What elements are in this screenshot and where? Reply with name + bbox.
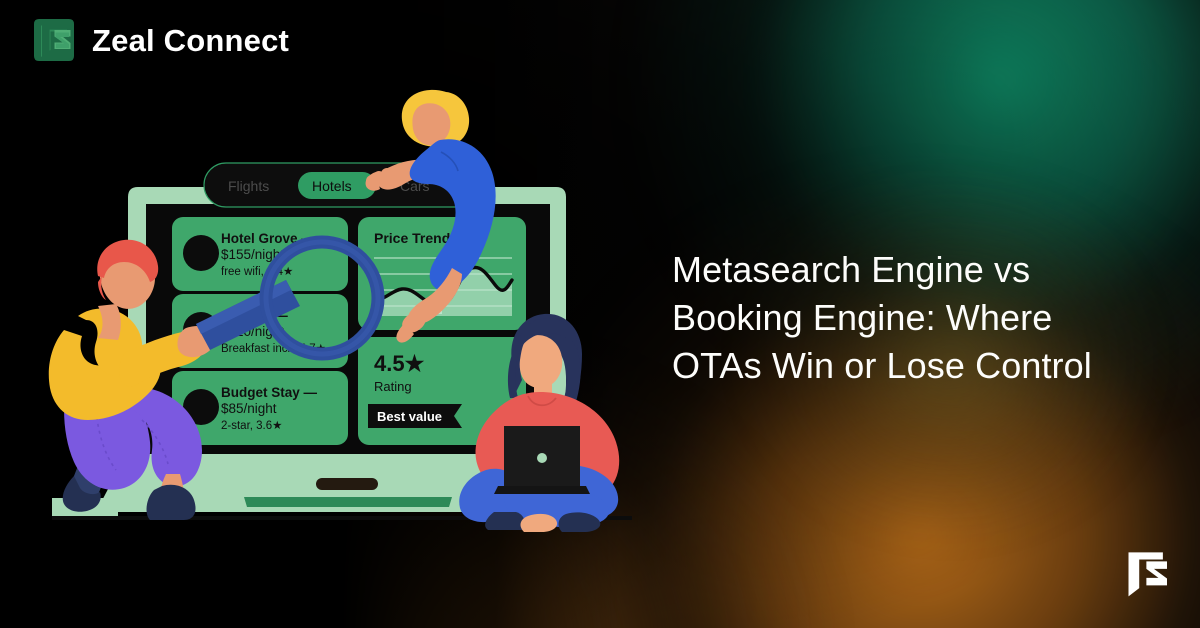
hotel-card-1[interactable]: Hotel Grove — $155/night free wifi, 4.4★ (172, 217, 348, 291)
brand-lockup: Zeal Connect (30, 16, 289, 64)
hotel-card-3-price: $85/night (221, 401, 277, 416)
rating-value: 4.5★ (374, 351, 425, 376)
hotel-card-3-meta: 2-star, 3.6★ (221, 420, 282, 432)
tab-hotels-label: Hotels (312, 178, 352, 194)
price-trend-title: Price Trend (374, 230, 450, 246)
metasearch-hotel-results-illustration: Hotel Grove — $155/night free wifi, 4.4★… (0, 0, 680, 628)
laptop-trackpad (244, 497, 452, 507)
hotel-card-3-title: Budget Stay — (221, 385, 318, 400)
tab-flights[interactable]: Flights (228, 178, 269, 194)
hotel-thumb-icon (183, 235, 219, 271)
tab-flights-label: Flights (228, 178, 269, 194)
tab-hotels[interactable]: Hotels (298, 172, 376, 199)
laptop-notch (316, 478, 378, 490)
zeal-z-mark-white-icon (1112, 540, 1178, 606)
promo-banner: Zeal Connect Metasearch Engine vs Bookin… (0, 0, 1200, 628)
best-value-label: Best value (377, 409, 442, 424)
page-title: Metasearch Engine vs Booking Engine: Whe… (672, 246, 1142, 390)
zeal-z-mark-icon (30, 16, 78, 64)
rating-label: Rating (374, 379, 412, 394)
brand-name: Zeal Connect (92, 25, 289, 56)
